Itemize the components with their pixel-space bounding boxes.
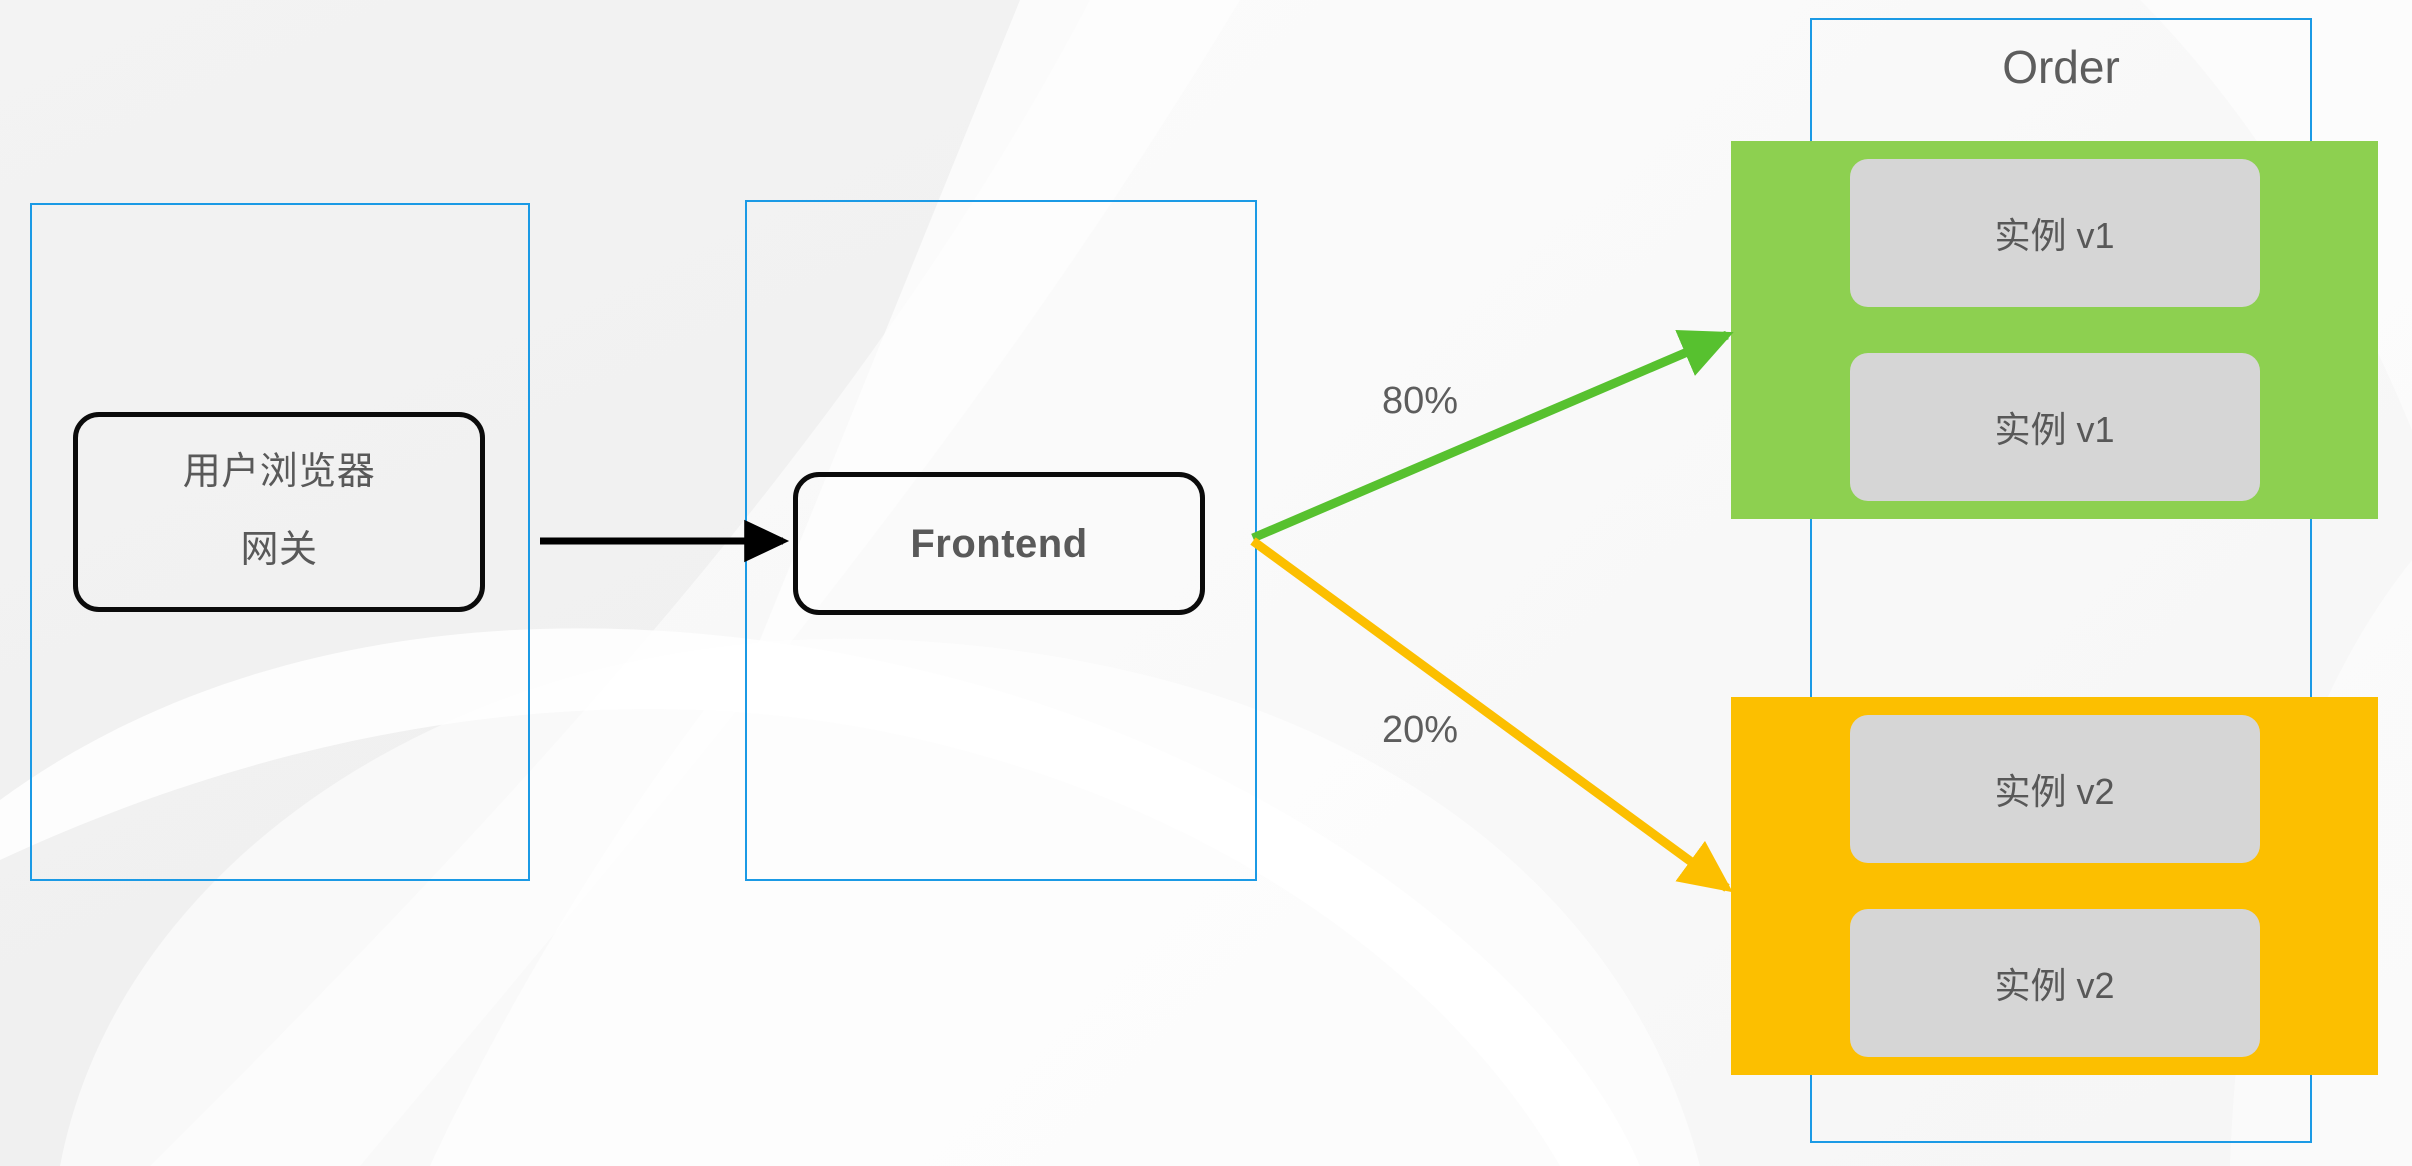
instance-box: 实例 v2	[1850, 909, 2260, 1057]
instance-box: 实例 v1	[1850, 353, 2260, 501]
gateway-node-label-line1: 用户浏览器	[183, 453, 376, 493]
edge-label-80-percent: 80%	[1382, 380, 1458, 423]
v2-panel: 实例 v2 实例 v2	[1731, 697, 2378, 1075]
edge-label-20-percent: 20%	[1382, 709, 1458, 752]
order-group-title: Order	[1810, 40, 2312, 94]
frontend-node-label: Frontend	[910, 523, 1087, 565]
diagram-canvas: Order 实例 v1 实例 v1 实例 v2 实例 v2 用户浏览器 网关 F…	[0, 0, 2412, 1166]
instance-box: 实例 v2	[1850, 715, 2260, 863]
v1-panel: 实例 v1 实例 v1	[1731, 141, 2378, 519]
gateway-node[interactable]: 用户浏览器 网关	[73, 412, 485, 612]
instance-box: 实例 v1	[1850, 159, 2260, 307]
frontend-node[interactable]: Frontend	[793, 472, 1205, 615]
gateway-node-label-line2: 网关	[240, 531, 317, 571]
